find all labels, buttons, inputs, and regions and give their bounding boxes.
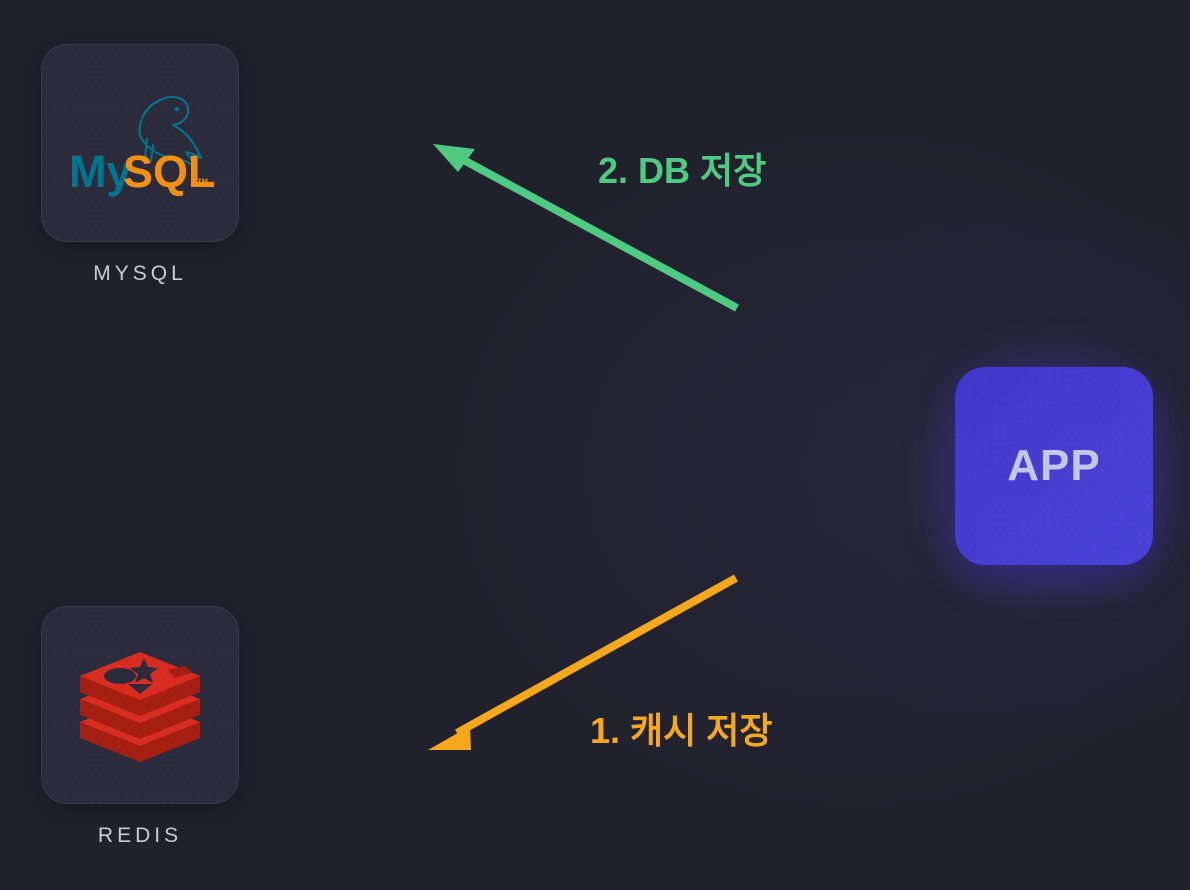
- node-label-redis: REDIS: [98, 824, 182, 848]
- node-redis[interactable]: REDIS: [42, 606, 238, 848]
- arrow-label-cache-write: 1. 캐시 저장: [590, 702, 773, 754]
- mysql-logo-icon: My SQL ™: [65, 87, 215, 199]
- node-app[interactable]: APP: [955, 367, 1153, 565]
- mysql-card[interactable]: My SQL ™: [41, 44, 239, 242]
- node-mysql[interactable]: My SQL ™ MYSQL: [42, 44, 238, 286]
- arrow-label-db-write: 2. DB 저장: [598, 142, 766, 194]
- redis-card[interactable]: [41, 606, 239, 804]
- diagram-canvas: My SQL ™ MYSQL: [0, 0, 1190, 890]
- app-label: APP: [1007, 441, 1100, 491]
- svg-text:™: ™: [197, 176, 209, 190]
- node-label-mysql: MYSQL: [93, 262, 187, 286]
- app-box[interactable]: APP: [955, 367, 1153, 565]
- redis-logo-icon: [76, 646, 204, 764]
